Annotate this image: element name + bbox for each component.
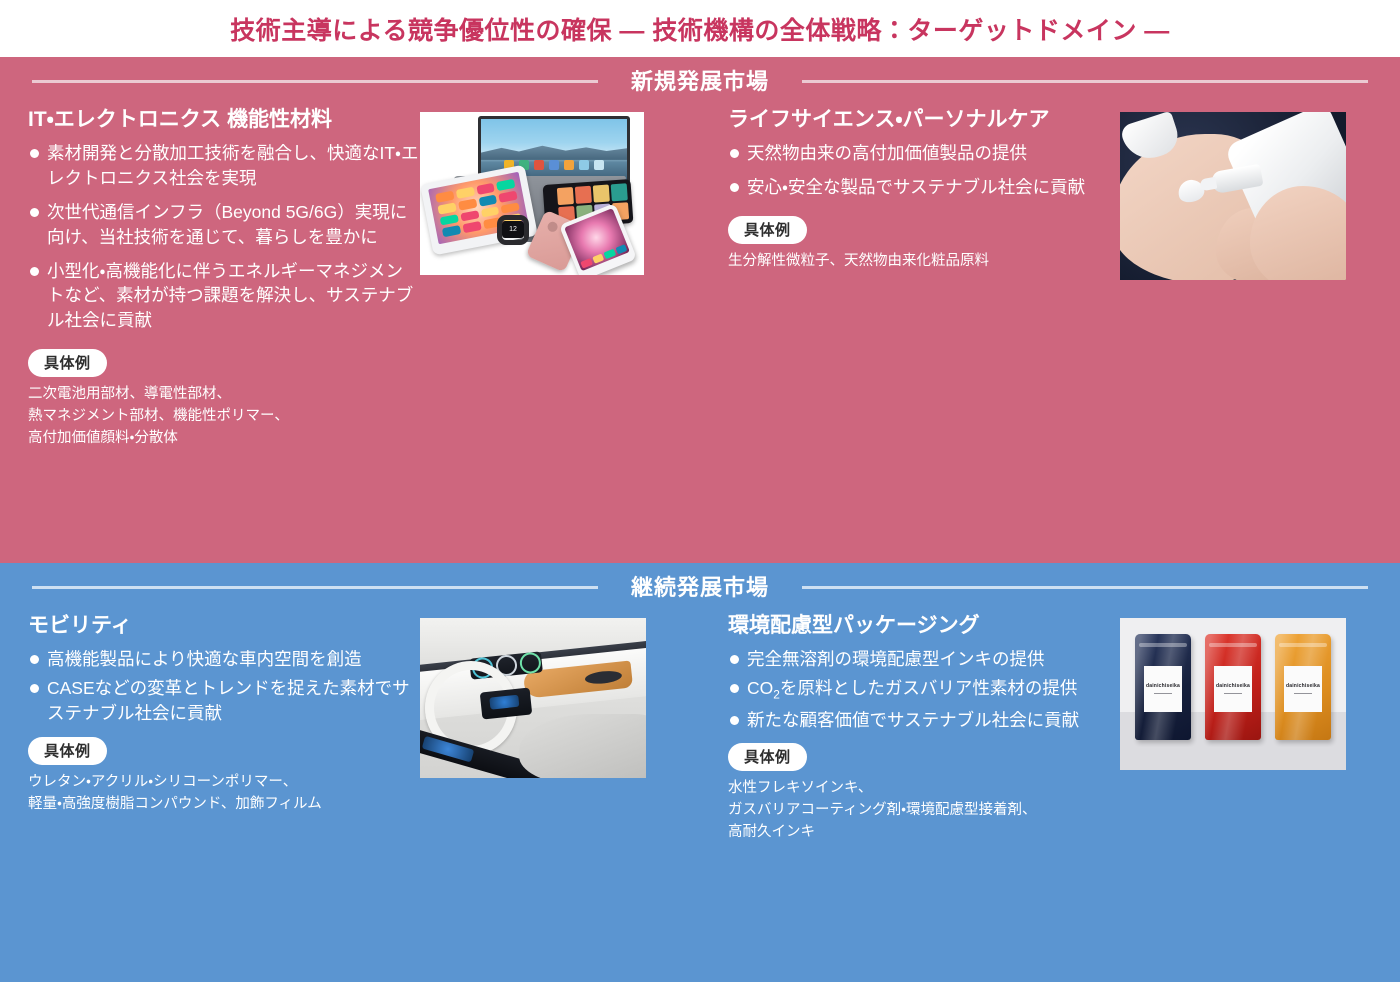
bullet-item: CASEなどの変革とトレンドを捉えた素材でサステナブル社会に貢献 (28, 676, 420, 726)
app-icon (593, 185, 610, 203)
band-header-continuing-markets: 継続発展市場 (0, 563, 1400, 609)
bullet-item: 小型化・高機能化に伴うエネルギーマネジメントなど、素材が持つ課題を解決し、サステ… (28, 259, 420, 334)
bullet-list-life-science: 天然物由来の高付加価値製品の提供 安心・安全な製品でサステナブル社会に貢献 (728, 141, 1120, 200)
pouch-orange: dainichiseika ▬▬▬▬▬▬ (1275, 634, 1331, 740)
example-text-life-science: 生分解性微粒子、天然物由来化粧品原料 (728, 251, 1120, 273)
bullet-item: CO2を原料としたガスバリア性素材の提供 (728, 676, 1120, 703)
app-icon (478, 194, 497, 206)
app-icon (594, 160, 604, 170)
heading-life-science: ライフサイエンス・パーソナルケア (728, 107, 1120, 133)
car-seat-shape (519, 714, 646, 778)
app-icon (456, 187, 475, 199)
page-title: 技術主導による競争優位性の確保 — 技術機構の全体戦略：ターゲットドメイン — (0, 0, 1400, 57)
divider-line-right (802, 80, 1368, 83)
pouch-brand-text: dainichiseika (1146, 683, 1180, 689)
heading-it-electronics: IT・エレクトロニクス 機能性材料 (28, 107, 420, 133)
pouch-label: dainichiseika ▬▬▬▬▬▬ (1144, 666, 1182, 712)
example-text-eco-packaging: 水性フレキソインキ、 ガスバリアコーティング剤・環境配慮型接着剤、 高耐久インキ (728, 778, 1120, 843)
bullet-item: 素材開発と分散加工技術を融合し、快適なIT・エレクトロニクス社会を実現 (28, 141, 420, 191)
example-badge-eco-packaging: 具体例 (728, 743, 807, 771)
app-icon (557, 187, 574, 205)
app-icon (496, 179, 515, 191)
heading-mobility: モビリティ (28, 613, 420, 639)
bullet-text-pre: CO (747, 678, 773, 698)
bullet-list-it-electronics: 素材開発と分散加工技術を融合し、快適なIT・エレクトロニクス社会を実現 次世代通… (28, 141, 420, 333)
pouch-label: dainichiseika ▬▬▬▬▬▬ (1214, 666, 1252, 712)
personal-care-photo (1120, 112, 1346, 280)
app-icon (564, 160, 574, 170)
bullet-item: 完全無溶剤の環境配慮型インキの提供 (728, 647, 1120, 672)
pouch-row: dainichiseika ▬▬▬▬▬▬ dainichiseika ▬▬▬▬▬… (1120, 634, 1346, 744)
app-icon (458, 198, 477, 210)
example-badge-it-electronics: 具体例 (28, 349, 107, 377)
app-icon (460, 210, 479, 222)
divider-line-left (32, 586, 598, 589)
example-text-mobility: ウレタン・アクリル・シリコーンポリマー、 軽量・高強度樹脂コンパウンド、加飾フィ… (28, 772, 420, 816)
car-interior-illustration (420, 618, 646, 778)
it-devices-illustration: 12 (420, 112, 644, 275)
section-new-markets: 新規発展市場 IT・エレクトロニクス 機能性材料 素材開発と分散加工技術を融合し… (0, 57, 1400, 563)
app-icon (499, 190, 518, 202)
bullet-text: 完全無溶剤の環境配慮型インキの提供 (747, 649, 1045, 669)
card-it-electronics: IT・エレクトロニクス 機能性材料 素材開発と分散加工技術を融合し、快適なIT・… (0, 107, 700, 449)
pouch-sub-text: ▬▬▬▬▬▬ (1294, 691, 1312, 695)
card-mobility: モビリティ 高機能製品により快適な車内空間を創造 CASEなどの変革とトレンドを… (0, 613, 700, 844)
pouch-brand-text: dainichiseika (1216, 683, 1250, 689)
bullet-item: 天然物由来の高付加価値製品の提供 (728, 141, 1120, 166)
app-icon (579, 160, 589, 170)
divider-line-left (32, 80, 598, 83)
pouch-navy: dainichiseika ▬▬▬▬▬▬ (1135, 634, 1191, 740)
pouch-label: dainichiseika ▬▬▬▬▬▬ (1284, 666, 1322, 712)
app-icon (437, 202, 456, 214)
app-icon (435, 191, 454, 203)
app-icon (611, 183, 628, 201)
bullet-list-eco-packaging: 完全無溶剤の環境配慮型インキの提供 CO2を原料としたガスバリア性素材の提供 新… (728, 647, 1120, 732)
app-icon (462, 221, 481, 233)
center-display-screen (480, 687, 532, 719)
watch-face: 12 (502, 221, 524, 238)
pouch-sub-text: ▬▬▬▬▬▬ (1154, 691, 1172, 695)
card-life-science: ライフサイエンス・パーソナルケア 天然物由来の高付加価値製品の提供 安心・安全な… (700, 107, 1400, 449)
app-icon (442, 225, 461, 237)
app-icon (476, 183, 495, 195)
pouch-red: dainichiseika ▬▬▬▬▬▬ (1205, 634, 1261, 740)
bullet-item: 高機能製品により快適な車内空間を創造 (28, 647, 420, 672)
divider-line-right (802, 586, 1368, 589)
band-title-continuing-markets: 継続発展市場 (609, 570, 791, 602)
bullet-text-post: を原料としたガスバリア性素材の提供 (780, 678, 1078, 698)
bullet-item: 次世代通信インフラ（Beyond 5G/6G）実現に向け、当社技術を通じて、暮ら… (28, 200, 420, 250)
bullet-item: 新たな顧客価値でサステナブル社会に貢献 (728, 708, 1120, 733)
app-icon (534, 160, 544, 170)
bullet-text: 新たな顧客価値でサステナブル社会に貢献 (747, 710, 1079, 730)
heading-eco-packaging: 環境配慮型パッケージング (728, 613, 1120, 639)
it-devices-photo: 12 (420, 112, 644, 275)
example-badge-life-science: 具体例 (728, 216, 807, 244)
gauge-icon (518, 651, 541, 674)
card-eco-packaging: 環境配慮型パッケージング 完全無溶剤の環境配慮型インキの提供 CO2を原料とした… (700, 613, 1400, 844)
packaging-photo: dainichiseika ▬▬▬▬▬▬ dainichiseika ▬▬▬▬▬… (1120, 618, 1346, 770)
car-interior-photo (420, 618, 646, 778)
bullet-list-mobility: 高機能製品により快適な車内空間を創造 CASEなどの変革とトレンドを捉えた素材で… (28, 647, 420, 726)
pouch-sub-text: ▬▬▬▬▬▬ (1224, 691, 1242, 695)
pouch-brand-text: dainichiseika (1286, 683, 1320, 689)
camera-icon (546, 220, 559, 233)
band-header-new-markets: 新規発展市場 (0, 57, 1400, 103)
app-icon (440, 214, 459, 226)
example-text-it-electronics: 二次電池用部材、導電性部材、 熱マネジメント部材、機能性ポリマー、 高付加価値顔… (28, 384, 420, 449)
band-title-new-markets: 新規発展市場 (609, 64, 791, 96)
section-continuing-markets: 継続発展市場 モビリティ 高機能製品により快適な車内空間を創造 CASEなどの変… (0, 563, 1400, 982)
app-icon (549, 160, 559, 170)
app-icon (575, 186, 592, 204)
personal-care-illustration (1120, 112, 1346, 280)
bullet-item: 安心・安全な製品でサステナブル社会に貢献 (728, 175, 1120, 200)
example-badge-mobility: 具体例 (28, 737, 107, 765)
smartwatch-icon: 12 (495, 213, 531, 247)
packaging-illustration: dainichiseika ▬▬▬▬▬▬ dainichiseika ▬▬▬▬▬… (1120, 618, 1346, 770)
subscript-2: 2 (773, 688, 780, 702)
